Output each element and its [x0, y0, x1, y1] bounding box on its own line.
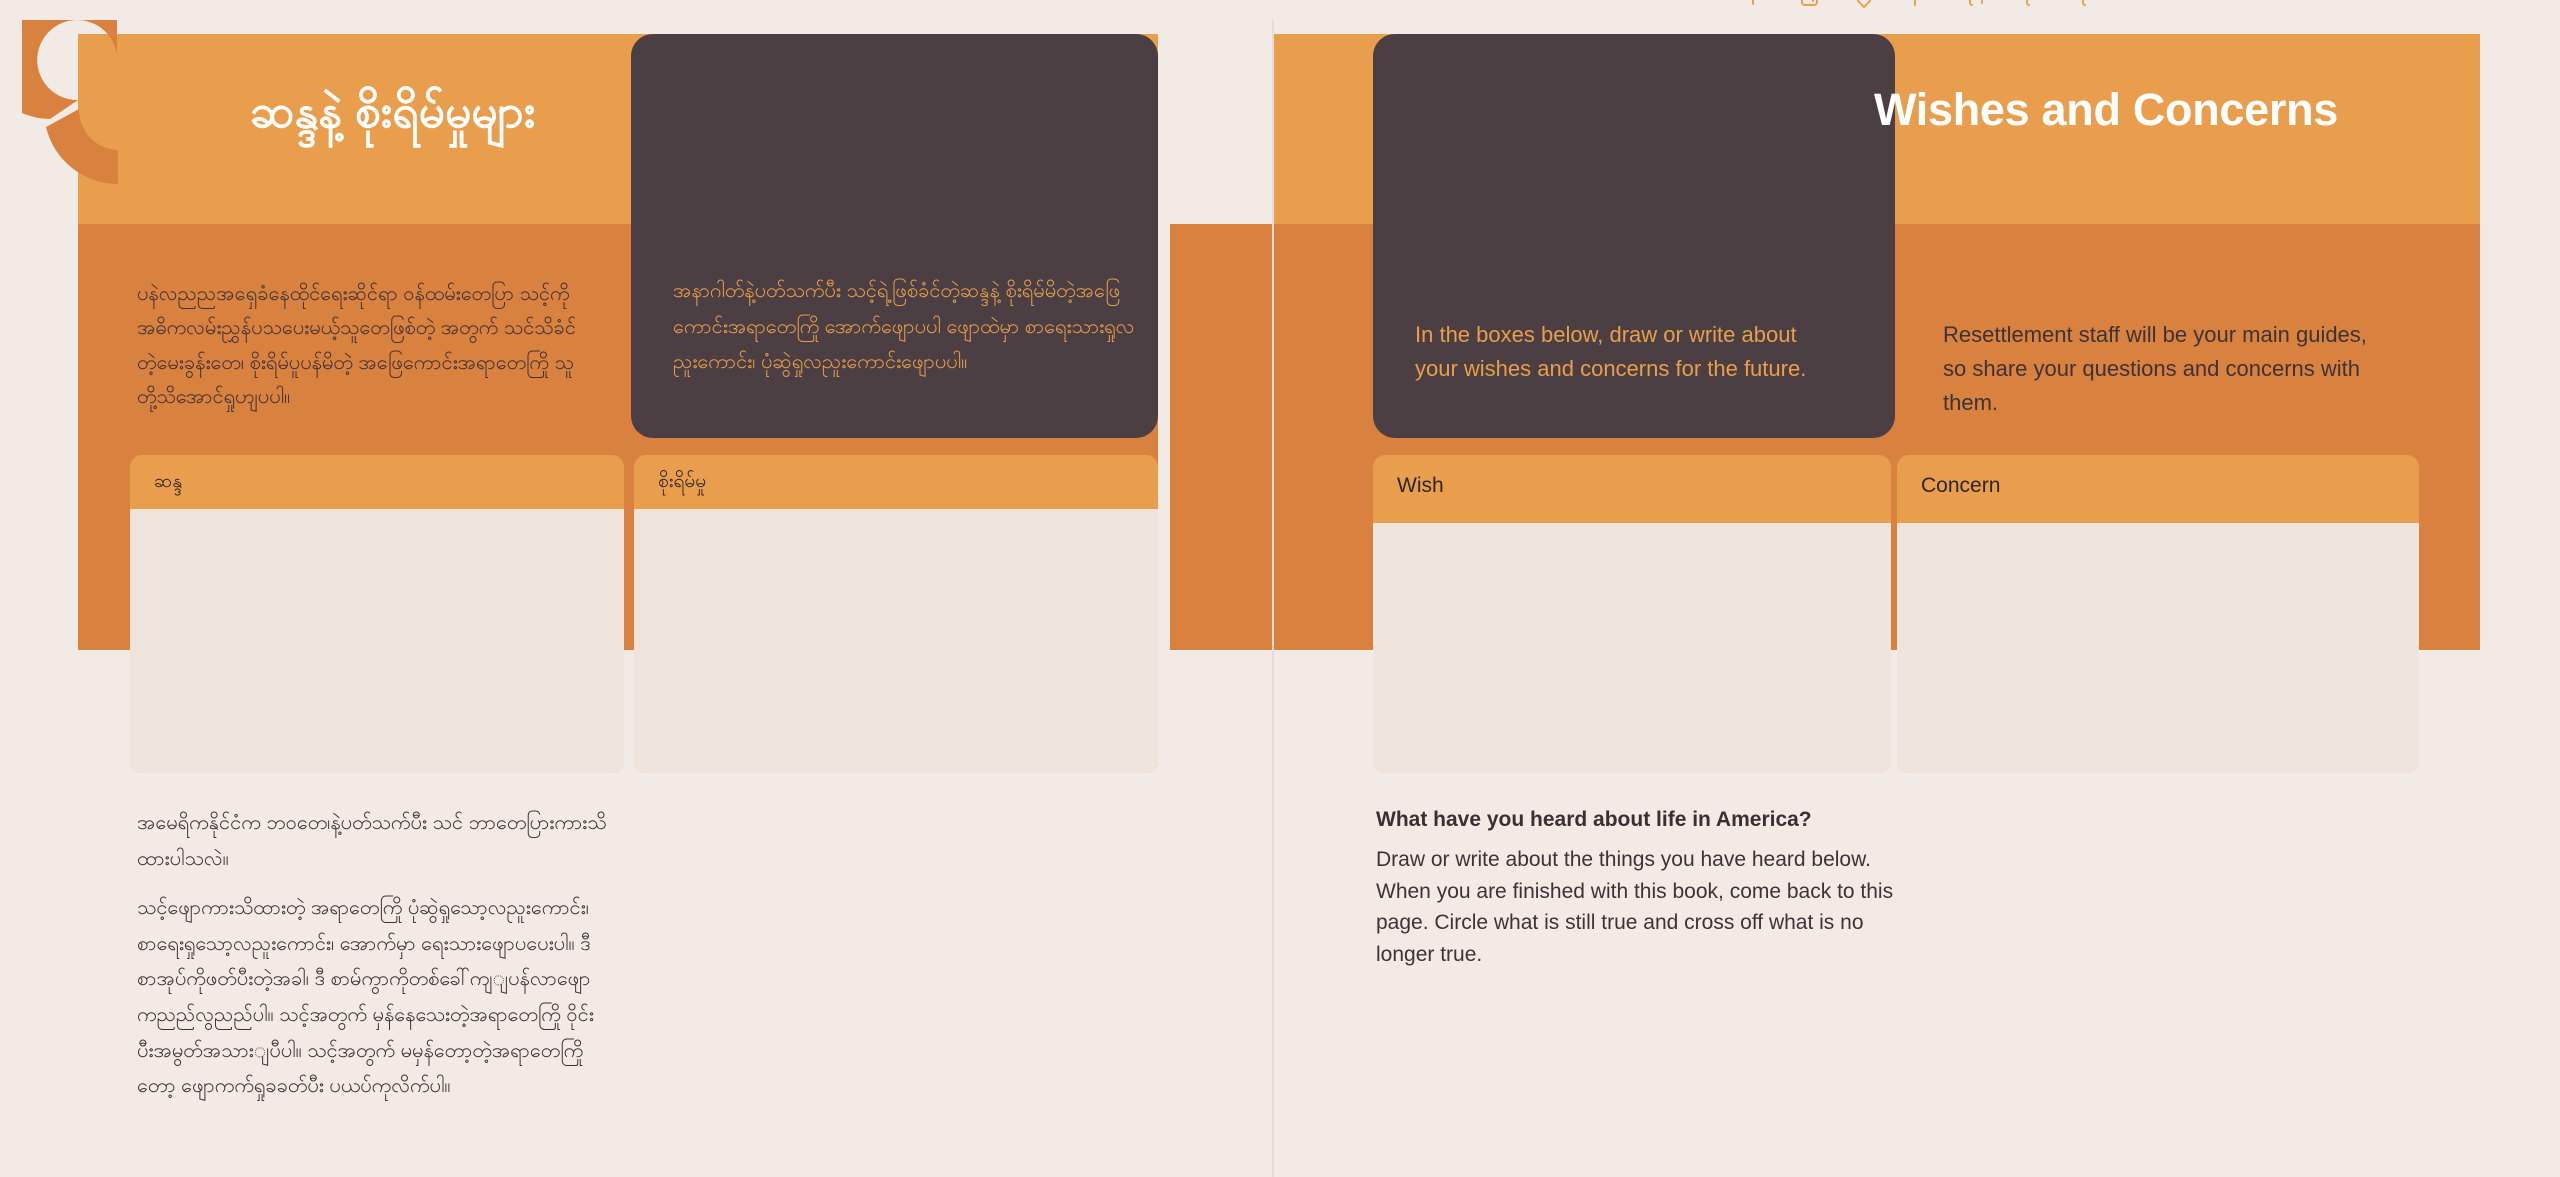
wish-box-label-burmese: ဆန္ဒ [154, 471, 182, 494]
left-intro-text: ပနဲလညညအရှေခံနေထိုင်ရေးဆိုင်ရာ ဝန်ထမ်းတေပ… [137, 277, 587, 415]
toolbar-icon-group [1742, 0, 2100, 12]
bracket-icon[interactable] [2022, 0, 2044, 12]
workbook-page: ဆန္ဒနဲ့ စိုးရိမ်မှုများ ပနဲလညညအရှေခံနေထိ… [0, 0, 2560, 1177]
page-divider [1272, 0, 1274, 1177]
concern-box[interactable]: Concern [1897, 455, 2419, 773]
left-instruction-text: အနာဂါတ်နဲ့ပတ်သက်ပီး သင့်ရဲ့ဖြစ်ခံင်တဲ့ဆန… [673, 274, 1153, 381]
right-page-title: Wishes and Concerns [1274, 84, 2454, 136]
left-footer-answer: သင့်ဖျောကားသိထားတဲ့ အရာတေကြို ပုံဆွဲရှုသ… [137, 891, 607, 1105]
wish-box-burmese[interactable]: ဆန္ဒ [130, 455, 624, 773]
top-toolbar [0, 0, 2560, 20]
concern-box-drawing-area[interactable] [1897, 523, 2419, 773]
wish-box-drawing-area-burmese[interactable] [130, 509, 624, 773]
left-footer-question: အမေရိကနိုင်ငံက ဘဝတေ၊နဲ့ပတ်သက်ပီး သင် ဘာတ… [137, 806, 607, 877]
concern-box-drawing-area-burmese[interactable] [634, 509, 1158, 773]
wish-box-label: Wish [1397, 473, 1444, 498]
chapter-number-logo [22, 14, 202, 194]
page-icon[interactable] [1854, 0, 1876, 12]
concern-box-burmese[interactable]: စိုးရိမ်မှု [634, 455, 1158, 773]
bracket-dot-icon[interactable] [2078, 0, 2100, 12]
right-footer-text: What have you heard about life in Americ… [1376, 806, 1896, 970]
wish-box[interactable]: Wish [1373, 455, 1891, 773]
right-instruction-text: In the boxes below, draw or write about … [1415, 318, 1845, 386]
add-bookmark-icon[interactable] [1798, 0, 1820, 12]
right-side-note: Resettlement staff will be your main gui… [1943, 318, 2373, 420]
add-text-icon[interactable] [1966, 0, 1988, 12]
right-footer-answer: Draw or write about the things you have … [1376, 844, 1896, 970]
concern-box-label: Concern [1921, 473, 2000, 498]
left-footer-text: အမေရိကနိုင်ငံက ဘဝတေ၊နဲ့ပတ်သက်ပီး သင် ဘာတ… [137, 806, 607, 1119]
right-footer-question: What have you heard about life in Americ… [1376, 806, 1896, 834]
add-icon[interactable] [1742, 0, 1764, 12]
text-cursor-icon[interactable] [1910, 0, 1932, 12]
wish-box-drawing-area[interactable] [1373, 523, 1891, 773]
left-page: ဆန္ဒနဲ့ စိုးရိမ်မှုများ ပနဲလညညအရှေခံနေထိ… [0, 0, 1272, 1177]
concern-box-label-burmese: စိုးရိမ်မှု [658, 471, 706, 494]
